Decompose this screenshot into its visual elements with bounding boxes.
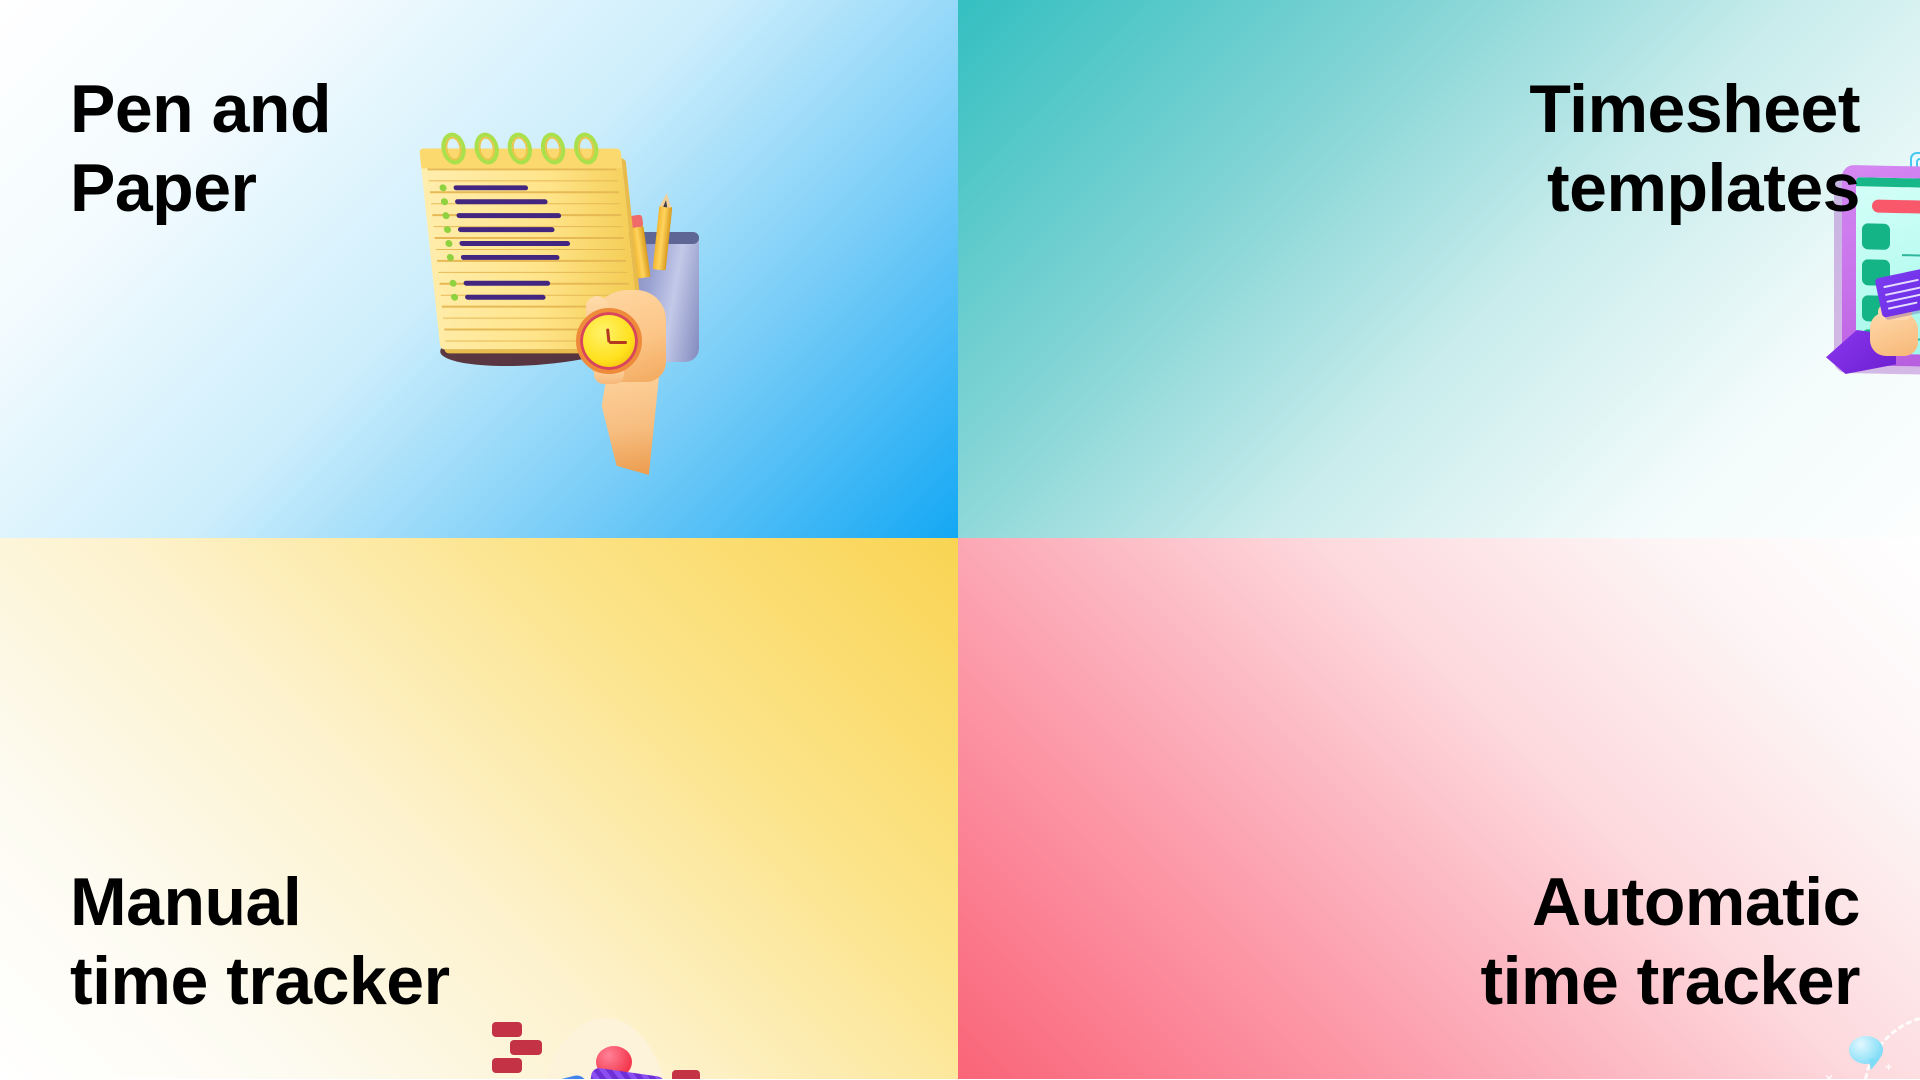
comparison-graphic: Pen and Paper bbox=[0, 0, 1920, 1080]
quadrant-title-pen-and-paper: Pen and Paper bbox=[70, 70, 331, 228]
chat-bubble-icon bbox=[1849, 1036, 1883, 1064]
quadrant-manual-time-tracker: ! DELAYED Manual time tracker bbox=[0, 538, 962, 1079]
stopwatch-icon bbox=[576, 308, 642, 374]
pencil-eraser bbox=[629, 214, 644, 228]
pencil-lead bbox=[663, 200, 668, 207]
quadrant-pen-and-paper: Pen and Paper bbox=[0, 0, 962, 541]
whiteboard-title-bar bbox=[1872, 199, 1920, 217]
red-block bbox=[672, 1070, 700, 1079]
checklist-scribble bbox=[459, 241, 570, 246]
ruled-line bbox=[437, 260, 626, 261]
red-block bbox=[510, 1040, 542, 1055]
ruled-line bbox=[427, 168, 616, 169]
checklist-scribble bbox=[465, 295, 546, 300]
checklist-scribble bbox=[463, 281, 550, 286]
checklist-bullet bbox=[445, 240, 453, 247]
checklist-bullet bbox=[446, 254, 454, 261]
red-block bbox=[492, 1058, 522, 1073]
whiteboard-top-bar bbox=[1856, 177, 1920, 192]
checklist-bullet bbox=[442, 212, 450, 219]
overloaded-worker-illustration: ! DELAYED bbox=[420, 1008, 740, 1079]
checklist-bullet bbox=[449, 280, 457, 287]
quadrant-automatic-time-tracker: × + · × · APP bbox=[958, 538, 1920, 1079]
ruled-line bbox=[435, 237, 624, 238]
checklist-bullet bbox=[439, 184, 447, 191]
ruled-line bbox=[430, 191, 619, 192]
checklist-bullet bbox=[441, 198, 449, 205]
checklist-bullet bbox=[451, 294, 459, 301]
stopwatch-hand bbox=[609, 341, 627, 344]
checklist-scribble bbox=[456, 213, 561, 218]
grid-line-horizontal bbox=[1902, 254, 1920, 261]
ruled-line bbox=[429, 180, 618, 181]
checklist-scribble bbox=[453, 185, 528, 190]
checklist-scribble bbox=[458, 227, 555, 232]
ruled-line bbox=[438, 271, 627, 272]
whiteboard-tab bbox=[1862, 223, 1890, 250]
notepad-illustration bbox=[420, 140, 750, 470]
ruled-line bbox=[436, 248, 625, 249]
quadrant-title-manual-time-tracker: Manual time tracker bbox=[70, 863, 450, 1021]
checklist-bullet bbox=[444, 226, 452, 233]
sparkle-icon: + bbox=[1885, 1060, 1892, 1074]
stopwatch-hand bbox=[606, 328, 610, 342]
hand-holding-stopwatch bbox=[570, 290, 690, 475]
quadrant-timesheet-templates: Timesheet templates bbox=[958, 0, 1920, 541]
checklist-scribble bbox=[461, 255, 560, 260]
quadrant-title-automatic-time-tracker: Automatic time tracker bbox=[1480, 863, 1860, 1021]
sparkle-icon: × bbox=[1825, 1070, 1833, 1079]
red-block bbox=[492, 1022, 522, 1037]
quadrant-title-timesheet-templates: Timesheet templates bbox=[1529, 70, 1860, 228]
checklist-scribble bbox=[455, 199, 548, 204]
